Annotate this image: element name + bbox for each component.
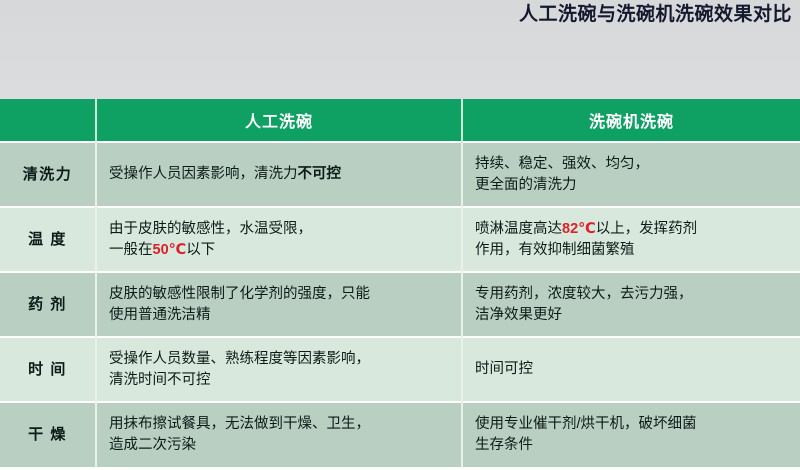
table-row: 时 间 受操作人员数量、熟练程度等因素影响，清洗时间不可控 时间可控: [0, 337, 800, 402]
temperature-value-manual: 50℃: [153, 242, 187, 258]
cell-line: 造成二次污染: [109, 435, 461, 456]
cell-line: 皮肤的敏感性限制了化学剂的强度，只能: [109, 284, 461, 305]
row-label-detergent: 药 剂: [0, 272, 96, 337]
cell-text: 使用专业催干剂/烘干机，破坏细菌生存条件: [475, 414, 800, 455]
cell-line: 生存条件: [475, 435, 800, 456]
row-label-cleaning-power: 清洗力: [0, 142, 96, 207]
cell-line: 用抹布擦试餐具，无法做到干燥、卫生，: [109, 414, 461, 435]
cell-machine-time: 时间可控: [462, 337, 800, 402]
cell-line: 清洗时间不可控: [109, 370, 461, 391]
cell-text: 专用药剂，浓度较大，去污力强，洁净效果更好: [475, 284, 800, 325]
cell-text: 时间可控: [475, 359, 800, 380]
row-label-drying: 干 燥: [0, 402, 96, 467]
table-row: 药 剂 皮肤的敏感性限制了化学剂的强度，只能使用普通洗洁精 专用药剂，浓度较大，…: [0, 272, 800, 337]
table-body: 清洗力 受操作人员因素影响，清洗力不可控 持续、稳定、强效、均匀，更全面的清洗力…: [0, 142, 800, 467]
row-label-time: 时 间: [0, 337, 96, 402]
cell-line: 洁净效果更好: [475, 305, 800, 326]
column-header-machine: 洗碗机洗碗: [462, 99, 800, 142]
title-banner: 人工洗碗与洗碗机洗碗效果对比: [0, 0, 800, 28]
cell-machine-cleaning-power: 持续、稳定、强效、均匀，更全面的清洗力: [462, 142, 800, 207]
cell-machine-drying: 使用专业催干剂/烘干机，破坏细菌生存条件: [462, 402, 800, 467]
cell-manual-temperature: 由于皮肤的敏感性，水温受限，一般在50℃以下: [96, 207, 462, 272]
column-header-manual: 人工洗碗: [96, 99, 462, 142]
table-row: 干 燥 用抹布擦试餐具，无法做到干燥、卫生，造成二次污染 使用专业催干剂/烘干机…: [0, 402, 800, 467]
comparison-infographic: 人工洗碗与洗碗机洗碗效果对比 人工洗碗 洗碗机洗碗 清洗力 受操作人员因素影响，…: [0, 0, 800, 470]
cell-manual-drying: 用抹布擦试餐具，无法做到干燥、卫生，造成二次污染: [96, 402, 462, 467]
cell-machine-detergent: 专用药剂，浓度较大，去污力强，洁净效果更好: [462, 272, 800, 337]
cell-text: 喷淋温度高达82℃以上，发挥药剂作用，有效抑制细菌繁殖: [475, 219, 800, 260]
cell-line: 使用专业催干剂/烘干机，破坏细菌: [475, 414, 800, 435]
comparison-table: 人工洗碗 洗碗机洗碗 清洗力 受操作人员因素影响，清洗力不可控 持续、稳定、强效…: [0, 99, 800, 467]
cell-text: 由于皮肤的敏感性，水温受限，一般在50℃以下: [109, 219, 461, 260]
page-title: 人工洗碗与洗碗机洗碗效果对比: [519, 5, 792, 24]
cell-manual-time: 受操作人员数量、熟练程度等因素影响，清洗时间不可控: [96, 337, 462, 402]
cell-text: 受操作人员因素影响，清洗力不可控: [109, 164, 461, 185]
cell-line: 时间可控: [475, 359, 800, 380]
cell-manual-detergent: 皮肤的敏感性限制了化学剂的强度，只能使用普通洗洁精: [96, 272, 462, 337]
row-label-temperature: 温 度: [0, 207, 96, 272]
table-header: 人工洗碗 洗碗机洗碗: [0, 99, 800, 142]
temperature-value-machine: 82℃: [562, 221, 596, 237]
cell-text: 皮肤的敏感性限制了化学剂的强度，只能使用普通洗洁精: [109, 284, 461, 325]
cell-line: 受操作人员数量、熟练程度等因素影响，: [109, 349, 461, 370]
table-header-row: 人工洗碗 洗碗机洗碗: [0, 99, 800, 142]
cell-line: 更全面的清洗力: [475, 175, 800, 196]
cell-line: 使用普通洗洁精: [109, 305, 461, 326]
cell-manual-cleaning-power: 受操作人员因素影响，清洗力不可控: [96, 142, 462, 207]
cell-line: 持续、稳定、强效、均匀，: [475, 154, 800, 175]
column-header-blank: [0, 99, 96, 142]
cell-text: 持续、稳定、强效、均匀，更全面的清洗力: [475, 154, 800, 195]
cell-text: 受操作人员数量、熟练程度等因素影响，清洗时间不可控: [109, 349, 461, 390]
cell-machine-temperature: 喷淋温度高达82℃以上，发挥药剂作用，有效抑制细菌繁殖: [462, 207, 800, 272]
table-row: 温 度 由于皮肤的敏感性，水温受限，一般在50℃以下 喷淋温度高达82℃以上，发…: [0, 207, 800, 272]
cell-line: 专用药剂，浓度较大，去污力强，: [475, 284, 800, 305]
table-row: 清洗力 受操作人员因素影响，清洗力不可控 持续、稳定、强效、均匀，更全面的清洗力: [0, 142, 800, 207]
cell-text: 用抹布擦试餐具，无法做到干燥、卫生，造成二次污染: [109, 414, 461, 455]
